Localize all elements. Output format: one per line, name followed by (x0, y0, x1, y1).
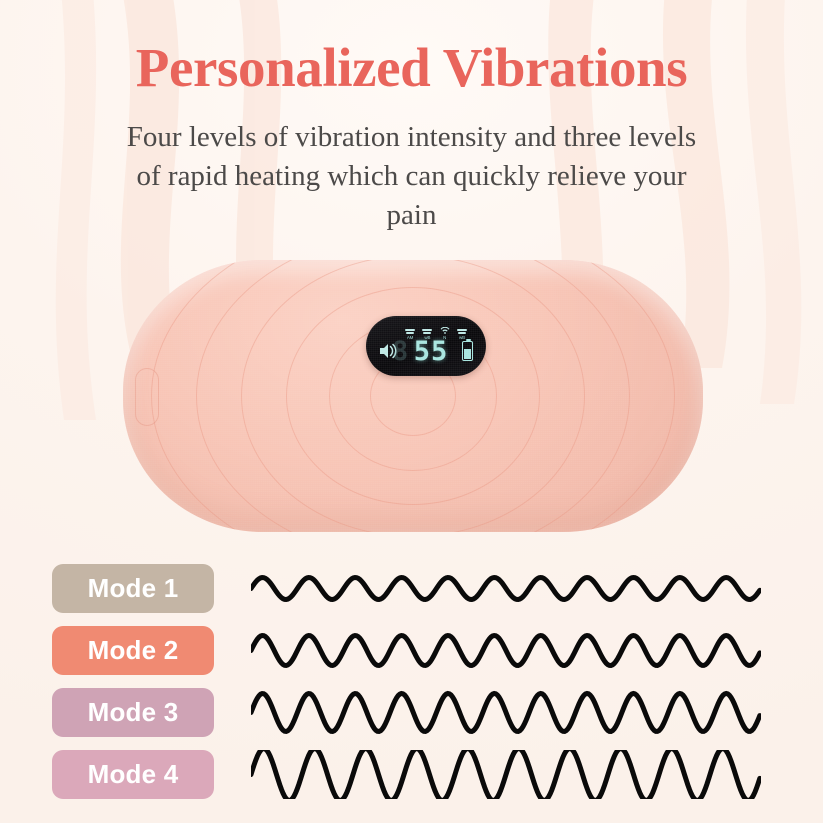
wireless-indicator: N (439, 327, 451, 340)
heat-level-indicator: wB (421, 329, 433, 340)
indicator-label: N (443, 335, 446, 340)
ripple-ring (370, 356, 456, 436)
mode-pill-2[interactable]: Mode 2 (52, 626, 214, 675)
indicator-bar (406, 332, 414, 334)
mode-label: Mode 1 (88, 573, 179, 604)
battery-fill (464, 349, 470, 359)
page-subtitle: Four levels of vibration intensity and t… (112, 118, 712, 235)
mode-label: Mode 3 (88, 697, 179, 728)
mode-pill-4[interactable]: Mode 4 (52, 750, 214, 799)
mode-row[interactable]: Mode 1 (52, 564, 792, 613)
mode-pill-1[interactable]: Mode 1 (52, 564, 214, 613)
mode-list: Mode 1 Mode 2 Mode 3 Mode 4 (0, 556, 823, 806)
vibration-level-indicator: wB (456, 329, 468, 340)
indicator-bar (458, 332, 466, 334)
temperature-readout: 55 (400, 338, 462, 366)
device-illustration: AM wB N (113, 252, 713, 540)
mode-pill-3[interactable]: Mode 3 (52, 688, 214, 737)
indicator-label: wB (424, 335, 430, 340)
indicator-bar (423, 332, 431, 334)
page-title: Personalized Vibrations (0, 40, 823, 95)
waveform-mode-3 (251, 688, 761, 737)
led-display-panel: AM wB N (366, 316, 486, 376)
indicator-bar (422, 329, 432, 331)
ripple-ring (286, 287, 540, 505)
mode-row[interactable]: Mode 2 (52, 626, 792, 675)
mode-label: Mode 2 (88, 635, 179, 666)
mode-label: Mode 4 (88, 759, 179, 790)
ripple-ring (329, 321, 497, 471)
waveform-mode-1 (251, 564, 761, 613)
indicator-bar (405, 329, 415, 331)
ripple-ring (241, 260, 585, 532)
indicator-label: wB (459, 335, 465, 340)
ripple-ring (196, 260, 630, 532)
product-feature-poster: Personalized Vibrations Four levels of v… (0, 0, 823, 823)
wifi-icon (440, 327, 450, 334)
display-ghost-digit: 8 (392, 338, 408, 366)
mode-row[interactable]: Mode 4 (52, 750, 792, 799)
timer-indicator: AM (404, 329, 416, 340)
battery-icon (462, 341, 473, 361)
waveform-mode-4 (251, 750, 761, 799)
device-body: AM wB N (123, 260, 703, 532)
indicator-label: AM (407, 335, 413, 340)
ripple-ring (151, 260, 675, 532)
vibration-waves-icon (378, 342, 398, 360)
power-button[interactable] (135, 368, 159, 426)
waveform-mode-2 (251, 626, 761, 675)
indicator-bar (457, 329, 467, 331)
mode-row[interactable]: Mode 3 (52, 688, 792, 737)
display-indicator-row: AM wB N (404, 327, 468, 340)
